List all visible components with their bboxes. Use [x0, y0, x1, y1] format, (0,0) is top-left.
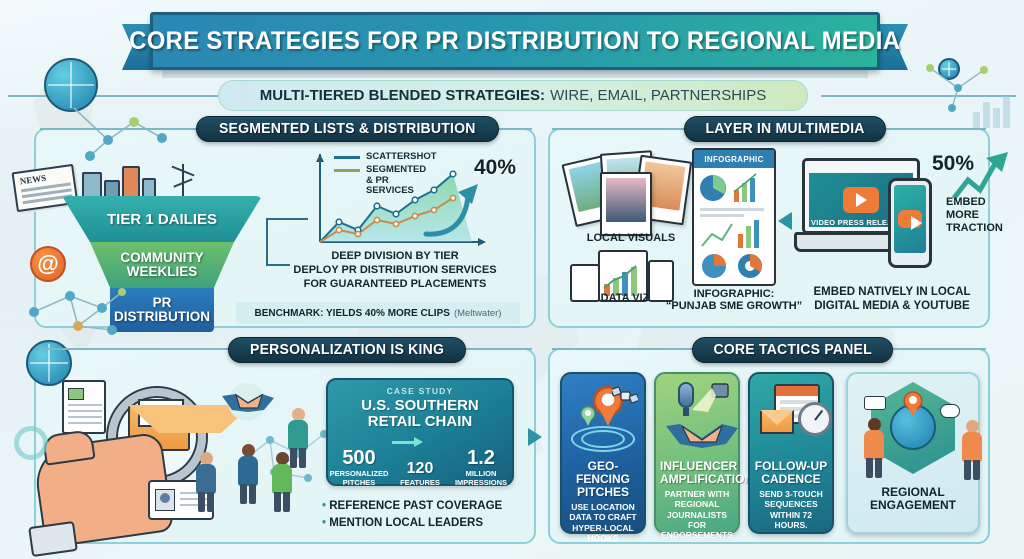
handshake-microphone-icon	[660, 374, 734, 460]
tactic-title: GEO-FENCING PITCHES	[566, 460, 640, 499]
bullet-item: MENTION LOCAL LEADERS	[322, 515, 502, 532]
play-icon	[843, 187, 879, 213]
title-ribbon: CORE STRATEGIES FOR PR DISTRIBUTION TO R…	[122, 12, 908, 74]
page-title: CORE STRATEGIES FOR PR DISTRIBUTION TO R…	[130, 27, 901, 56]
tactic-card-regional-engagement[interactable]: REGIONAL ENGAGEMENT	[846, 372, 980, 534]
engagement-title: REGIONAL ENGAGEMENT	[852, 486, 974, 513]
pill-rule-multi-right	[872, 128, 986, 130]
subtitle-rest: WIRE, EMAIL, PARTNERSHIPS	[550, 87, 766, 104]
tactic-description: PARTNER WITH REGIONAL JOURNALISTS FOR EN…	[660, 489, 734, 541]
case-study-stats: 500 PERSONALIZED PITCHES 120 FEATURES 1.…	[328, 435, 512, 488]
note-deploy-services: DEPLOY PR DISTRIBUTION SERVICES	[270, 264, 520, 278]
infographic-badge: INFOGRAPHIC	[694, 150, 774, 168]
pill-rule-tactics-right	[878, 348, 986, 350]
handshake-icon	[218, 382, 276, 422]
funnel-tier-1: TIER 1 DAILIES	[62, 196, 262, 242]
map-pin-icon-small	[581, 406, 596, 426]
chart-annotation-40: 40%	[474, 156, 516, 180]
local-visuals-photos	[566, 148, 696, 228]
pill-rule-multi-left	[552, 128, 686, 130]
personalization-to-tactics-arrow	[528, 428, 542, 446]
segmented-notes: DEEP DIVISION BY TIER DEPLOY PR DISTRIBU…	[270, 250, 520, 291]
pill-rule-seg-left	[40, 128, 198, 130]
panel-title-multimedia-label: LAYER IN MULTIMEDIA	[705, 121, 864, 137]
embed-caption: EMBED NATIVELY IN LOCAL DIGITAL MEDIA & …	[792, 286, 992, 314]
note-deep-division: DEEP DIVISION BY TIER	[270, 250, 520, 264]
pill-rule-pers-left	[40, 348, 230, 350]
subtitle-bold: MULTI-TIERED BLENDED STRATEGIES:	[260, 87, 545, 104]
stat-pitches: 500 PERSONALIZED PITCHES	[328, 448, 390, 487]
play-icon-small	[898, 210, 922, 228]
funnel-chart-connector	[266, 218, 308, 220]
stat-features: 120 FEATURES	[392, 435, 448, 488]
photo-thumb	[600, 172, 652, 236]
case-study-card: CASE STUDY U.S. SOUTHERN RETAIL CHAIN 50…	[326, 378, 514, 486]
network-nodes-icon-lower	[16, 278, 136, 348]
legend-item-segmented: SEGMENTED & PR SERVICES	[334, 165, 437, 196]
legend-swatch-segmented	[334, 169, 360, 172]
phone-screen	[894, 185, 926, 253]
case-study-title: U.S. SOUTHERN RETAIL CHAIN	[328, 398, 512, 430]
chat-bubble-icon	[940, 404, 960, 418]
tactic-description: USE LOCATION DATA TO CRAFT HYPER-LOCAL H…	[566, 502, 640, 543]
calendar-stopwatch-envelope-icon	[754, 374, 828, 460]
spotlight-icon	[690, 380, 734, 414]
legend-item-scattershot: SCATTERSHOT	[334, 152, 437, 162]
network-nodes-icon-left	[60, 100, 180, 162]
caption-infographic: INFOGRAPHIC: “PUNJAB SME GROWTH”	[654, 288, 814, 312]
tactic-title: FOLLOW-UP CADENCE	[754, 460, 828, 486]
benchmark-text: BENCHMARK: YIELDS 40% MORE CLIPS	[255, 308, 450, 319]
gear-icon	[14, 426, 48, 460]
map-pin-radar-icon	[566, 374, 640, 460]
connector-vert	[266, 218, 268, 266]
stopwatch-icon	[798, 402, 832, 436]
letter-icon	[138, 399, 184, 427]
subtitle-rule-left	[8, 95, 218, 97]
arrow-icon	[392, 435, 426, 461]
caption-local-visuals: LOCAL VISUALS	[566, 232, 696, 244]
satellite-icon	[612, 384, 638, 408]
network-nodes-icon-right	[912, 46, 1008, 114]
tactic-card-influencer[interactable]: INFLUENCER AMPLIFICATION PARTNER WITH RE…	[654, 372, 740, 534]
tactic-title: INFLUENCER AMPLIFICATION	[660, 460, 734, 486]
personalization-bullets: REFERENCE PAST COVERAGE MENTION LOCAL LE…	[322, 498, 502, 531]
tactic-card-geo-fencing[interactable]: GEO-FENCING PITCHES USE LOCATION DATA TO…	[560, 372, 646, 534]
tactic-card-follow-up[interactable]: FOLLOW-UP CADENCE SEND 3-TOUCH SEQUENCES…	[748, 372, 834, 534]
title-banner: CORE STRATEGIES FOR PR DISTRIBUTION TO R…	[150, 12, 880, 70]
subtitle-pill: MULTI-TIERED BLENDED STRATEGIES: WIRE, E…	[218, 80, 808, 111]
map-pin-icon	[903, 391, 922, 417]
at-sign-icon: @	[30, 246, 66, 282]
shirt-cuff	[28, 521, 78, 557]
multimedia-flow-arrow	[778, 212, 792, 230]
panel-title-tactics: CORE TACTICS PANEL	[692, 337, 893, 363]
infographic-canvas: CORE STRATEGIES FOR PR DISTRIBUTION TO R…	[0, 0, 1024, 559]
panel-title-personalization-label: PERSONALIZATION IS KING	[250, 342, 444, 358]
note-guaranteed-placements: FOR GUARANTEED PLACEMENTS	[270, 278, 520, 292]
callout-50-percent: 50%	[932, 152, 974, 176]
panel-title-tactics-label: CORE TACTICS PANEL	[713, 342, 871, 358]
panel-title-segmented-label: SEGMENTED LISTS & DISTRIBUTION	[219, 121, 476, 137]
infographic-poster: INFOGRAPHIC	[692, 148, 776, 286]
legend-label-scattershot: SCATTERSHOT	[366, 152, 437, 162]
benchmark-callout: BENCHMARK: YIELDS 40% MORE CLIPS (Meltwa…	[236, 302, 520, 324]
tactic-description: SEND 3-TOUCH SEQUENCES WITHIN 72 HOURS.	[754, 489, 828, 530]
pill-rule-tactics-left	[552, 348, 694, 350]
globe-people-hexagon-icon	[852, 374, 974, 486]
chart-legend: SCATTERSHOT SEGMENTED & PR SERVICES	[334, 152, 437, 199]
benchmark-source: (Meltwater)	[454, 308, 502, 319]
legend-swatch-scattershot	[334, 156, 360, 159]
growth-line-chart: SCATTERSHOT SEGMENTED & PR SERVICES 40%	[306, 150, 496, 262]
traction-text: EMBED MORE TRACTION	[946, 196, 1020, 235]
envelope-icon	[760, 410, 794, 434]
case-study-label: CASE STUDY	[328, 386, 512, 396]
infographic-thumbnails	[694, 168, 774, 284]
bullet-item: REFERENCE PAST COVERAGE	[322, 498, 502, 515]
mobile-phone	[888, 178, 932, 268]
chat-bubble-icon	[864, 396, 886, 410]
panel-title-segmented: SEGMENTED LISTS & DISTRIBUTION	[196, 116, 499, 142]
panel-title-multimedia: LAYER IN MULTIMEDIA	[684, 116, 886, 142]
legend-label-segmented: SEGMENTED & PR SERVICES	[366, 165, 426, 196]
handshake-icon	[664, 416, 742, 454]
panel-title-personalization: PERSONALIZATION IS KING	[228, 337, 466, 363]
document-card-icon	[62, 380, 106, 434]
stat-impressions: 1.2 MILLION IMPRESSIONS	[450, 448, 512, 487]
